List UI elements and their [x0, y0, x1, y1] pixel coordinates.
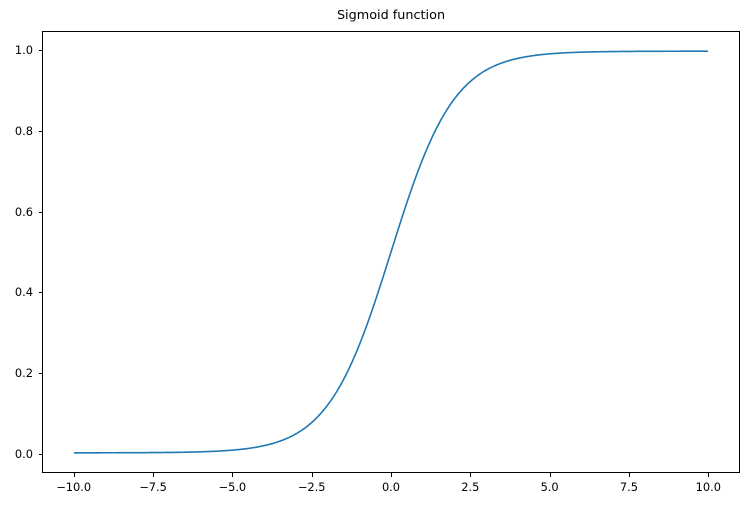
sigmoid-curve-svg: [43, 32, 739, 472]
x-tick-label: 0.0: [382, 480, 400, 494]
x-tick-label: 5.0: [541, 480, 559, 494]
x-tick-label: 7.5: [620, 480, 638, 494]
y-tick-label: 0.6: [15, 205, 33, 219]
y-tick-mark: [39, 454, 43, 455]
x-tick-mark: [708, 473, 709, 477]
x-tick-label: −7.5: [139, 480, 167, 494]
y-tick-label: 0.0: [15, 447, 33, 461]
y-tick-mark: [39, 50, 43, 51]
x-tick-mark: [312, 473, 313, 477]
x-tick-label: −2.5: [298, 480, 326, 494]
x-tick-mark: [550, 473, 551, 477]
plot-axes-area: [42, 31, 740, 473]
x-tick-mark: [470, 473, 471, 477]
x-tick-mark: [232, 473, 233, 477]
x-tick-label: −10.0: [56, 480, 91, 494]
x-tick-mark: [391, 473, 392, 477]
matplotlib-figure: Sigmoid function −10.0−7.5−5.0−2.50.02.5…: [0, 0, 749, 528]
y-tick-label: 1.0: [15, 43, 33, 57]
sigmoid-line-series: [75, 51, 708, 453]
x-tick-mark: [74, 473, 75, 477]
y-tick-mark: [39, 212, 43, 213]
y-tick-label: 0.2: [15, 366, 33, 380]
y-tick-mark: [39, 292, 43, 293]
y-tick-mark: [39, 373, 43, 374]
x-tick-label: 10.0: [696, 480, 721, 494]
y-tick-label: 0.8: [15, 124, 33, 138]
x-tick-label: −5.0: [219, 480, 247, 494]
chart-title: Sigmoid function: [42, 8, 740, 24]
y-tick-label: 0.4: [15, 285, 33, 299]
y-tick-mark: [39, 131, 43, 132]
x-tick-mark: [153, 473, 154, 477]
x-tick-mark: [629, 473, 630, 477]
x-tick-label: 2.5: [461, 480, 479, 494]
